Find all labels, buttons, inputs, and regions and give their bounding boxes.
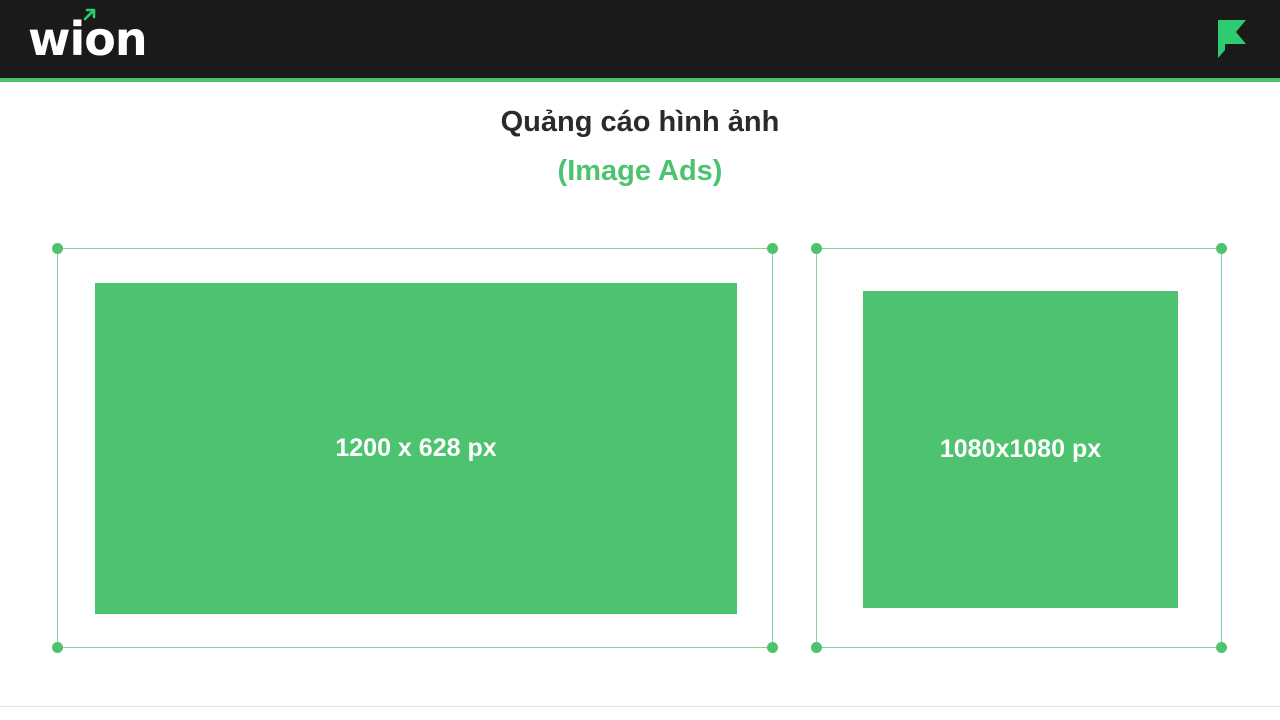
header-bar: wion (0, 0, 1280, 78)
page-title-block: Quảng cáo hình ảnh (Image Ads) (0, 104, 1280, 189)
resize-handle-top-left[interactable] (811, 243, 822, 254)
square-ad-placeholder[interactable]: 1080x1080 px (863, 291, 1178, 608)
page-subtitle: (Image Ads) (0, 153, 1280, 189)
square-ad-label: 1080x1080 px (940, 435, 1101, 464)
footer-divider (0, 706, 1280, 707)
landscape-ad-placeholder[interactable]: 1200 x 628 px (95, 283, 737, 614)
header-accent-rule (0, 78, 1280, 82)
resize-handle-top-right[interactable] (767, 243, 778, 254)
resize-handle-bottom-left[interactable] (52, 642, 63, 653)
resize-handle-bottom-right[interactable] (767, 642, 778, 653)
landscape-ad-frame[interactable]: 1200 x 628 px (57, 248, 773, 648)
resize-handle-bottom-right[interactable] (1216, 642, 1227, 653)
resize-handle-top-right[interactable] (1216, 243, 1227, 254)
page-title: Quảng cáo hình ảnh (0, 104, 1280, 140)
square-ad-frame[interactable]: 1080x1080 px (816, 248, 1222, 648)
landscape-ad-label: 1200 x 628 px (335, 434, 496, 463)
wion-flag-icon (1212, 18, 1252, 60)
resize-handle-top-left[interactable] (52, 243, 63, 254)
resize-handle-bottom-left[interactable] (811, 642, 822, 653)
